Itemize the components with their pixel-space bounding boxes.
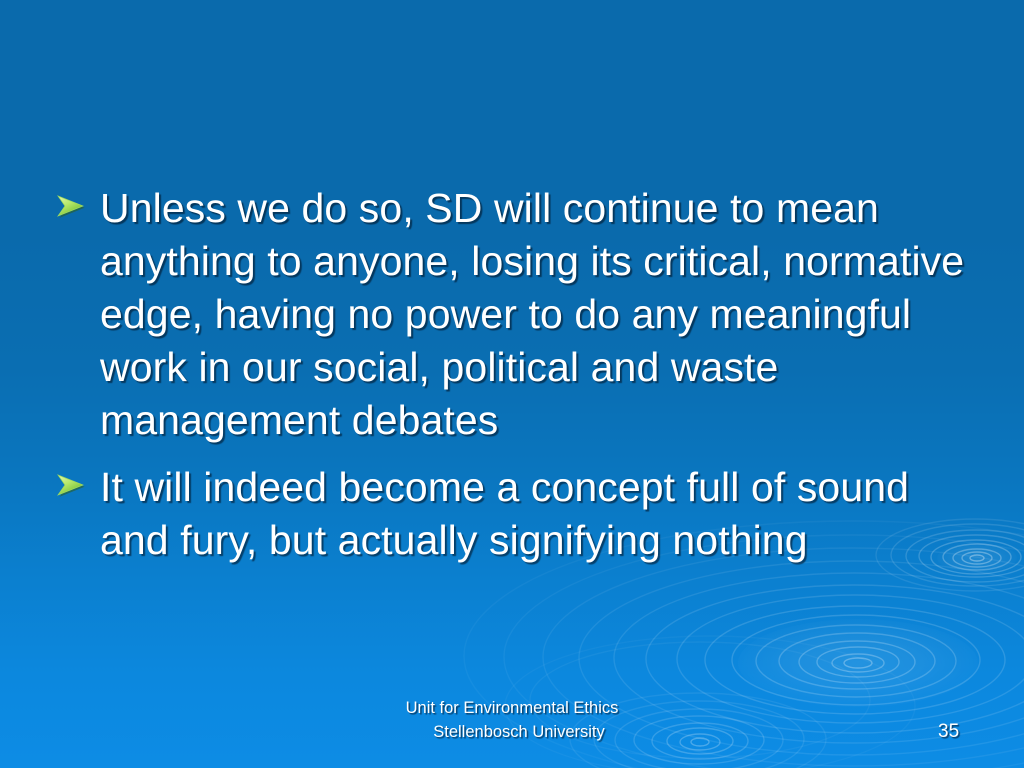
footer-line-university: Stellenbosch University	[0, 720, 1024, 744]
bullet-item-2: It will indeed become a concept full of …	[56, 461, 986, 567]
footer-attribution: Unit for Environmental Ethics Stellenbos…	[0, 696, 1024, 744]
green-arrow-bullet-icon	[56, 461, 100, 499]
bullet-text-1: Unless we do so, SD will continue to mea…	[100, 182, 986, 447]
slide-number-value: 35	[938, 720, 959, 744]
green-arrow-bullet-icon	[56, 182, 100, 220]
footer-line-unit: Unit for Environmental Ethics	[0, 696, 1024, 720]
bullet-item-1: Unless we do so, SD will continue to mea…	[56, 182, 986, 447]
slide-footer: Unit for Environmental Ethics Stellenbos…	[0, 696, 1024, 754]
slide-body: Unless we do so, SD will continue to mea…	[56, 182, 986, 581]
presentation-slide: Unless we do so, SD will continue to mea…	[0, 0, 1024, 768]
bullet-text-2: It will indeed become a concept full of …	[100, 461, 986, 567]
